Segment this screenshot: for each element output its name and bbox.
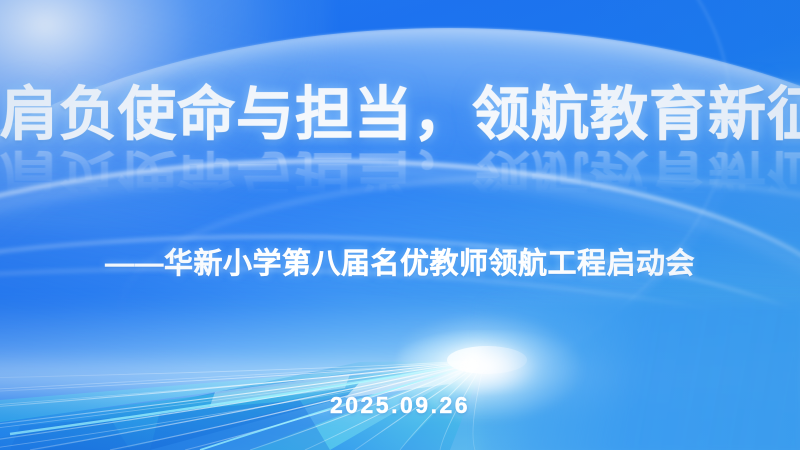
- perspective-ray-field: [0, 330, 800, 450]
- corner-glow-burst: [0, 0, 330, 230]
- event-banner: 肩负使命与担当，领航教育新征程 肩负使命与担当，领航教育新征程 ——华新小学第八…: [0, 0, 800, 450]
